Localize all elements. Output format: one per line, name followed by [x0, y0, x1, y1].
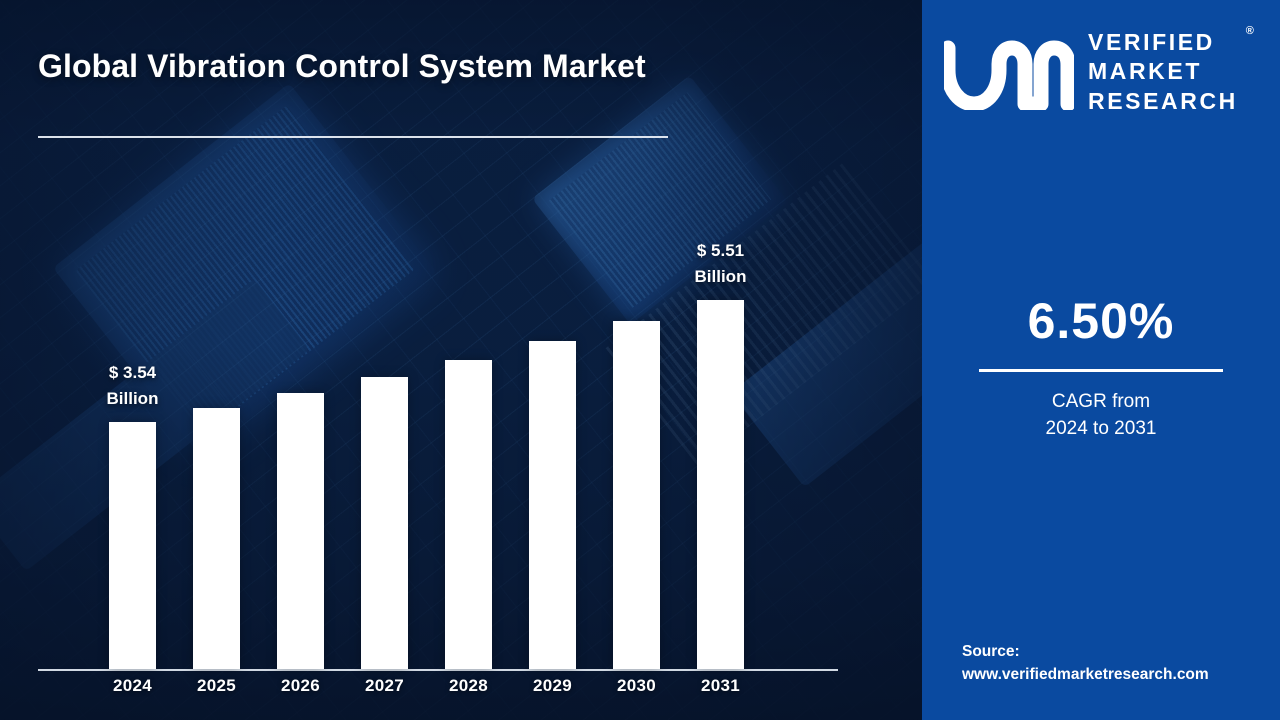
x-tick-label-2024: 2024 [88, 676, 178, 696]
x-tick-label-2026: 2026 [256, 676, 346, 696]
source-note: Source: www.verifiedmarketresearch.com [962, 640, 1272, 687]
cagr-caption: CAGR from 2024 to 2031 [922, 389, 1280, 443]
infographic-canvas: Global Vibration Control System Market 2… [0, 0, 1280, 720]
source-url[interactable]: www.verifiedmarketresearch.com [962, 663, 1272, 686]
chart-baseline-axis [38, 669, 838, 671]
bar-2031 [697, 300, 744, 669]
x-tick-label-2029: 2029 [508, 676, 598, 696]
bar-2029 [529, 341, 576, 669]
bar-2024 [109, 422, 156, 669]
brand-line-research: RESEARCH [1088, 87, 1238, 116]
brand-line-market: MARKET [1088, 57, 1238, 86]
bar-2027 [361, 377, 408, 669]
cagr-divider [979, 369, 1223, 372]
source-label: Source: [962, 640, 1272, 663]
value-label-amount: $ 3.54 [73, 360, 193, 386]
registered-trademark-icon: ® [1246, 24, 1254, 38]
chart-panel: Global Vibration Control System Market 2… [0, 0, 922, 720]
bar-2025 [193, 408, 240, 669]
vmr-logo-icon [944, 34, 1074, 110]
x-tick-label-2028: 2028 [424, 676, 514, 696]
cagr-caption-line2: 2024 to 2031 [922, 416, 1280, 443]
bar-2028 [445, 360, 492, 669]
x-tick-label-2025: 2025 [172, 676, 262, 696]
cagr-value: 6.50% [922, 296, 1280, 346]
value-label-unit: Billion [73, 386, 193, 412]
value-label-2031: $ 5.51Billion [661, 238, 781, 289]
x-tick-label-2031: 2031 [676, 676, 766, 696]
brand-line-verified: VERIFIED [1088, 28, 1238, 57]
brand-panel: VERIFIED MARKET RESEARCH ® 6.50% CAGR fr… [922, 0, 1280, 720]
brand-wordmark: VERIFIED MARKET RESEARCH ® [1088, 28, 1238, 116]
value-label-amount: $ 5.51 [661, 238, 781, 264]
bar-2030 [613, 321, 660, 669]
brand-logo[interactable]: VERIFIED MARKET RESEARCH ® [944, 28, 1238, 116]
value-label-2024: $ 3.54Billion [73, 360, 193, 411]
cagr-block: 6.50% CAGR from 2024 to 2031 [922, 296, 1280, 443]
bar-2026 [277, 393, 324, 669]
cagr-caption-line1: CAGR from [922, 389, 1280, 416]
value-label-unit: Billion [661, 264, 781, 290]
bar-chart: 2024$ 3.54Billion20252026202720282029203… [0, 0, 922, 720]
x-tick-label-2030: 2030 [592, 676, 682, 696]
x-tick-label-2027: 2027 [340, 676, 430, 696]
